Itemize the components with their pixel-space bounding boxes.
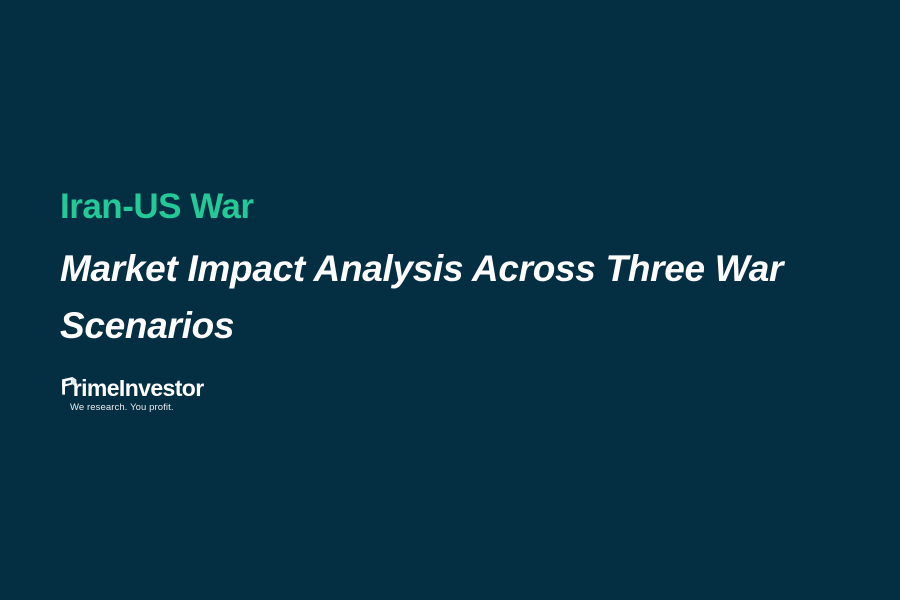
brand-name: PrimeInvestor — [58, 375, 204, 401]
brand-logo: PrimeInvestor We research. You profit. — [58, 375, 288, 414]
brand-name-rest: rimeInvestor — [73, 375, 204, 401]
brand-tagline: We research. You profit. — [70, 402, 288, 414]
brand-wordmark-row: PrimeInvestor — [58, 375, 288, 401]
headline-subtitle: Market Impact Analysis Across Three War … — [60, 241, 790, 353]
title-slide: Iran-US War Market Impact Analysis Acros… — [0, 0, 900, 600]
title-content-block: Iran-US War Market Impact Analysis Acros… — [60, 186, 820, 354]
page-title: Iran-US War — [60, 186, 820, 227]
